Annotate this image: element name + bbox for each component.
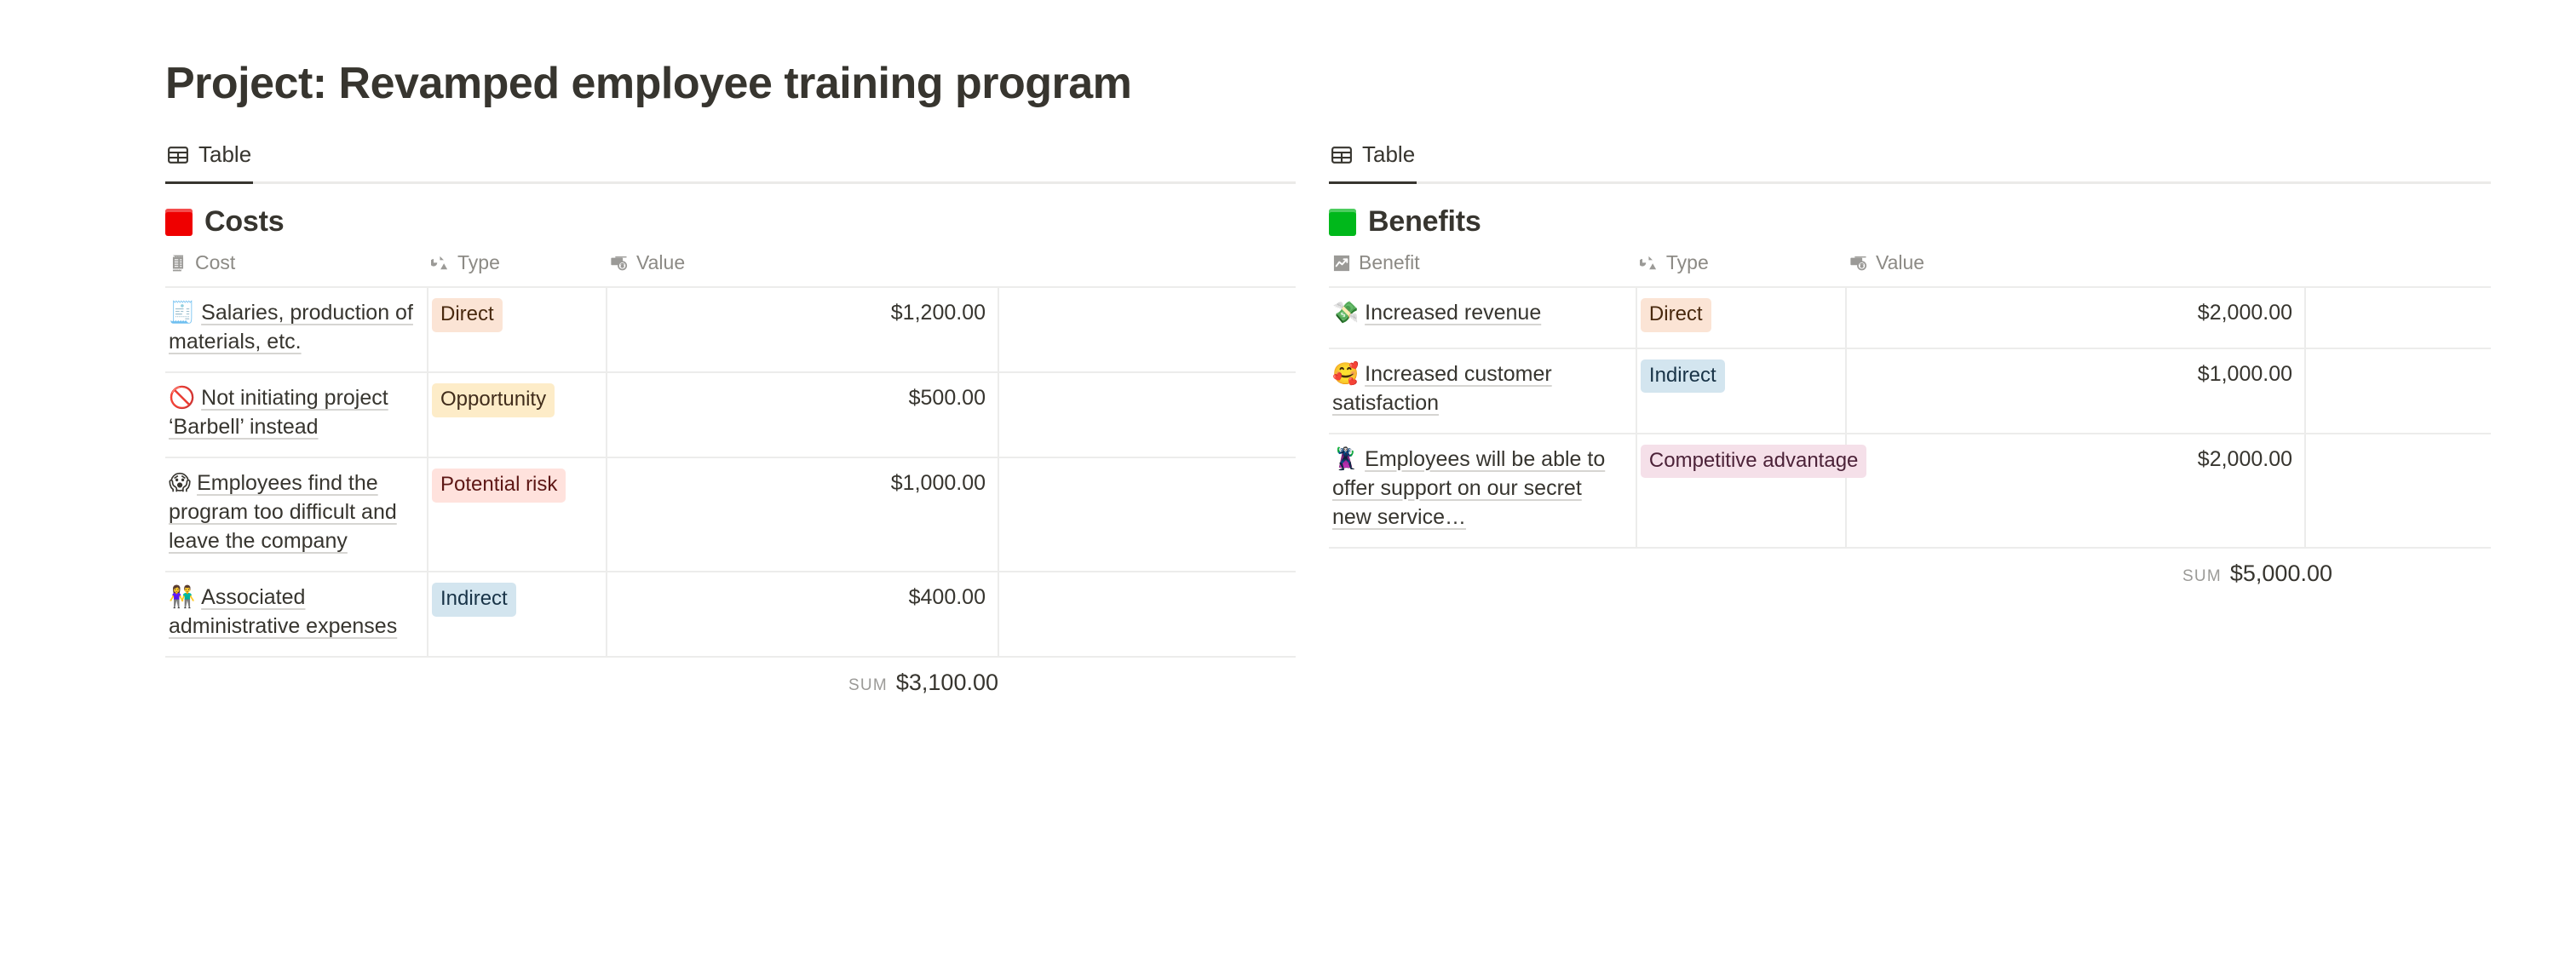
- red-square-icon: [165, 209, 193, 236]
- cell-cost-title[interactable]: 👫Associated administrative expenses: [165, 572, 428, 657]
- table-row[interactable]: 🧾Salaries, production of materials, etc.…: [165, 287, 1296, 372]
- page-title: Project: Revamped employee training prog…: [165, 59, 1131, 110]
- tab-label: Table: [1362, 141, 1415, 168]
- row-title: Increased customer satisfaction: [1332, 362, 1552, 415]
- people-emoji-icon: 👫: [169, 584, 195, 609]
- table-row[interactable]: 💸Increased revenue Direct $2,000.00: [1329, 287, 2491, 348]
- cell-empty[interactable]: [998, 572, 1296, 657]
- column-header-benefit[interactable]: Benefit: [1329, 246, 1636, 287]
- column-header-value[interactable]: Value: [1846, 246, 2305, 287]
- screaming-face-emoji-icon: 😱: [169, 470, 191, 495]
- costs-database-title: Costs: [165, 206, 1296, 238]
- cell-benefit-title[interactable]: 🥰Increased customer satisfaction: [1329, 348, 1636, 434]
- column-header-type[interactable]: Type: [1636, 246, 1846, 287]
- type-tag: Direct: [1641, 298, 1711, 331]
- cell-cost-title[interactable]: 😱Employees find the program too difficul…: [165, 457, 428, 572]
- benefits-sum-row[interactable]: SUM $5,000.00: [1329, 549, 2491, 590]
- costs-sum-row[interactable]: SUM $3,100.00: [165, 658, 1296, 699]
- cell-benefit-value[interactable]: $2,000.00: [1846, 287, 2305, 348]
- costs-column: Table Costs: [0, 136, 1329, 699]
- cell-benefit-title[interactable]: 🦹Employees will be able to offer support…: [1329, 434, 1636, 548]
- row-title: Not initiating project ‘Barbell’ instead: [169, 386, 388, 439]
- cell-cost-type[interactable]: Indirect: [428, 572, 607, 657]
- type-tag: Opportunity: [432, 383, 555, 417]
- cell-cost-value[interactable]: $1,000.00: [607, 457, 998, 572]
- costs-header-row: Cost: [165, 246, 1296, 287]
- benefits-database-title: Benefits: [1329, 206, 2491, 238]
- green-square-icon: [1329, 209, 1356, 236]
- type-tag: Indirect: [432, 583, 516, 616]
- row-title: Employees find the program too difficult…: [169, 471, 397, 553]
- currency-icon: [610, 254, 629, 273]
- row-title: Increased revenue: [1365, 301, 1541, 325]
- tab-table-benefits[interactable]: Table: [1329, 136, 1417, 181]
- two-column-layout: Table Costs: [0, 136, 2576, 699]
- column-header-value[interactable]: Value: [607, 246, 998, 287]
- prohibited-emoji-icon: 🚫: [169, 385, 195, 410]
- cell-cost-value[interactable]: $500.00: [607, 372, 998, 457]
- supervillain-emoji-icon: 🦹: [1332, 446, 1359, 471]
- column-header-label: Benefit: [1359, 251, 1420, 274]
- column-header-label: Type: [457, 251, 500, 274]
- receipt-title-icon: [169, 254, 187, 273]
- table-row[interactable]: 😱Employees find the program too difficul…: [165, 457, 1296, 572]
- column-header-label: Value: [1876, 251, 1924, 274]
- column-header-label: Type: [1666, 251, 1709, 274]
- cell-cost-title[interactable]: 🚫Not initiating project ‘Barbell’ instea…: [165, 372, 428, 457]
- value-amount: $1,000.00: [611, 469, 986, 497]
- table-row[interactable]: 🚫Not initiating project ‘Barbell’ instea…: [165, 372, 1296, 457]
- value-amount: $500.00: [611, 383, 986, 412]
- benefits-column: Table Benefits: [1329, 136, 2576, 590]
- value-amount: $2,000.00: [1850, 445, 2292, 474]
- column-header-type[interactable]: Type: [428, 246, 607, 287]
- select-icon: [431, 254, 450, 273]
- table-row[interactable]: 🦹Employees will be able to offer support…: [1329, 434, 2491, 548]
- cell-cost-type[interactable]: Direct: [428, 287, 607, 372]
- row-title: Employees will be able to offer support …: [1332, 447, 1605, 529]
- cell-empty[interactable]: [998, 372, 1296, 457]
- cell-empty[interactable]: [998, 457, 1296, 572]
- row-title: Associated administrative expenses: [169, 585, 397, 638]
- sum-label: SUM: [2182, 567, 2222, 586]
- cell-benefit-title[interactable]: 💸Increased revenue: [1329, 287, 1636, 348]
- table-icon: [167, 144, 189, 166]
- cell-cost-value[interactable]: $1,200.00: [607, 287, 998, 372]
- cell-benefit-type[interactable]: Competitive advantage: [1636, 434, 1846, 548]
- chart-title-icon: [1332, 254, 1351, 273]
- costs-database-name: Costs: [204, 206, 284, 238]
- tab-table-costs[interactable]: Table: [165, 136, 253, 181]
- row-title: Salaries, production of materials, etc.: [169, 301, 413, 354]
- cell-benefit-type[interactable]: Direct: [1636, 287, 1846, 348]
- cell-empty[interactable]: [2305, 287, 2491, 348]
- type-tag: Indirect: [1641, 359, 1725, 393]
- smiling-face-with-hearts-emoji-icon: 🥰: [1332, 361, 1359, 386]
- table-row[interactable]: 🥰Increased customer satisfaction Indirec…: [1329, 348, 2491, 434]
- cell-cost-value[interactable]: $400.00: [607, 572, 998, 657]
- column-header-cost[interactable]: Cost: [165, 246, 428, 287]
- value-amount: $2,000.00: [1850, 298, 2292, 327]
- costs-tabbar: Table: [165, 136, 1296, 184]
- column-header-empty: [998, 246, 1296, 287]
- sum-label: SUM: [848, 676, 888, 695]
- benefits-table: Benefit: [1329, 246, 2491, 548]
- cell-cost-type[interactable]: Potential risk: [428, 457, 607, 572]
- sum-value: $3,100.00: [896, 670, 998, 696]
- column-header-label: Cost: [195, 251, 235, 274]
- benefits-database-name: Benefits: [1368, 206, 1481, 238]
- cell-benefit-value[interactable]: $1,000.00: [1846, 348, 2305, 434]
- value-amount: $1,200.00: [611, 298, 986, 327]
- cell-empty[interactable]: [2305, 348, 2491, 434]
- page-root: Project: Revamped employee training prog…: [0, 0, 2576, 966]
- receipt-emoji-icon: 🧾: [169, 300, 195, 325]
- value-amount: $400.00: [611, 583, 986, 612]
- table-icon: [1331, 144, 1353, 166]
- type-tag: Competitive advantage: [1641, 445, 1866, 478]
- cell-benefit-type[interactable]: Indirect: [1636, 348, 1846, 434]
- cell-empty[interactable]: [998, 287, 1296, 372]
- costs-table: Cost: [165, 246, 1296, 658]
- money-with-wings-emoji-icon: 💸: [1332, 300, 1359, 325]
- cell-benefit-value[interactable]: $2,000.00: [1846, 434, 2305, 548]
- tab-label: Table: [198, 141, 251, 168]
- column-header-empty: [2305, 246, 2491, 287]
- cell-cost-title[interactable]: 🧾Salaries, production of materials, etc.: [165, 287, 428, 372]
- type-tag: Direct: [432, 298, 503, 331]
- benefits-header-row: Benefit: [1329, 246, 2491, 287]
- select-icon: [1640, 254, 1659, 273]
- column-header-label: Value: [636, 251, 685, 274]
- benefits-tabbar: Table: [1329, 136, 2491, 184]
- table-row[interactable]: 👫Associated administrative expenses Indi…: [165, 572, 1296, 657]
- value-amount: $1,000.00: [1850, 359, 2292, 388]
- cell-cost-type[interactable]: Opportunity: [428, 372, 607, 457]
- type-tag: Potential risk: [432, 469, 566, 502]
- sum-value: $5,000.00: [2230, 561, 2332, 587]
- currency-icon: [1849, 254, 1868, 273]
- cell-empty[interactable]: [2305, 434, 2491, 548]
